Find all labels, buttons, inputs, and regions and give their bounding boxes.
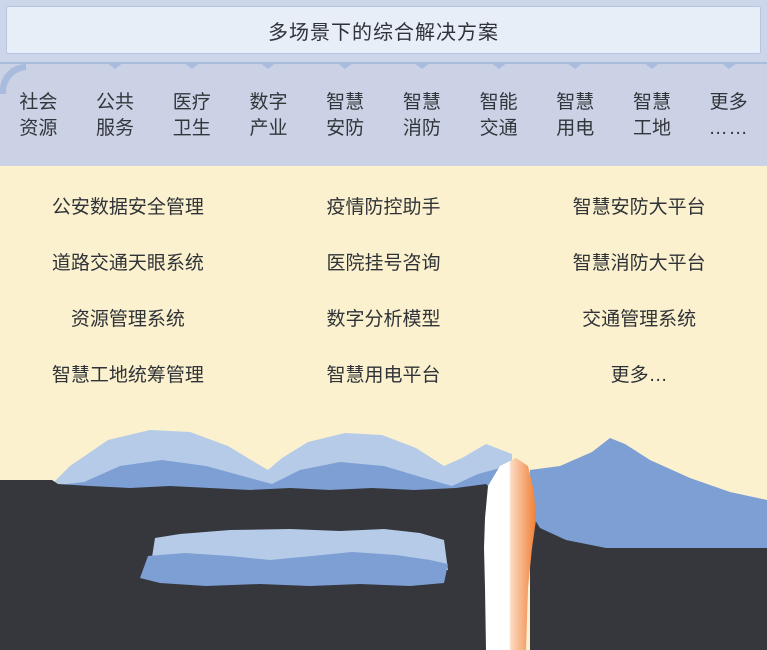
scenario-tab-9[interactable]: 更多…… <box>690 64 767 168</box>
solutions-panel: 公安数据安全管理疫情防控助手智慧安防大平台道路交通天眼系统医院挂号咨询智慧消防大… <box>0 166 767 421</box>
tab-divider-notch-top <box>720 62 738 69</box>
tab-label-line1: 数字 <box>249 91 287 115</box>
solution-item-3[interactable]: 道路交通天眼系统 <box>52 248 204 275</box>
solution-item-10[interactable]: 智慧用电平台 <box>326 360 440 387</box>
title-band: 多场景下的综合解决方案 <box>0 0 767 62</box>
landscape-svg <box>0 408 767 650</box>
tab-divider-notch-top <box>259 62 277 69</box>
solution-item-0[interactable]: 公安数据安全管理 <box>52 192 204 219</box>
tab-divider-notch-top <box>183 62 201 69</box>
solution-item-7[interactable]: 数字分析模型 <box>326 304 440 331</box>
tab-label-line1: 智慧 <box>556 91 594 115</box>
tab-label-line1: 社会 <box>19 91 57 115</box>
scenario-tab-5[interactable]: 智慧消防 <box>384 64 461 168</box>
tab-divider-notch-top <box>413 62 431 69</box>
scenario-tab-1[interactable]: 公共服务 <box>77 64 154 168</box>
scenario-tab-3[interactable]: 数字产业 <box>230 64 307 168</box>
tab-label-line2: 安防 <box>326 117 364 141</box>
tab-label-line1: 公共 <box>96 91 134 115</box>
scenario-tab-4[interactable]: 智慧安防 <box>307 64 384 168</box>
solution-item-9[interactable]: 智慧工地统筹管理 <box>52 360 204 387</box>
scenario-tabbar: 社会资源公共服务医疗卫生数字产业智慧安防智慧消防智能交通智慧用电智慧工地更多…… <box>0 62 767 166</box>
tab-divider-notch-top <box>643 62 661 69</box>
solution-item-4[interactable]: 医院挂号咨询 <box>326 248 440 275</box>
tab-label-line2: 消防 <box>403 117 441 141</box>
tab-label-line2: 产业 <box>249 117 287 141</box>
solution-item-2[interactable]: 智慧安防大平台 <box>573 192 706 219</box>
tab-label-line1: 智能 <box>480 91 518 115</box>
tab-label-line2: 交通 <box>480 117 518 141</box>
tab-label-line2: 资源 <box>19 117 57 141</box>
tab-divider-notch-top <box>490 62 508 69</box>
tab-label-line2: 卫生 <box>173 117 211 141</box>
tab-divider-notch-top <box>336 62 354 69</box>
solution-item-5[interactable]: 智慧消防大平台 <box>573 248 706 275</box>
solution-item-11[interactable]: 更多… <box>611 360 668 387</box>
solution-item-1[interactable]: 疫情防控助手 <box>326 192 440 219</box>
solution-item-6[interactable]: 资源管理系统 <box>71 304 185 331</box>
solution-overview-panel: 多场景下的综合解决方案 社会资源公共服务医疗卫生数字产业智慧安防智慧消防智能交通… <box>0 0 767 650</box>
tab-label-line1: 智慧 <box>403 91 441 115</box>
tab-divider-notch-top <box>566 62 584 69</box>
tab-label-line1: 智慧 <box>633 91 671 115</box>
scenario-tab-6[interactable]: 智能交通 <box>460 64 537 168</box>
solutions-grid: 公安数据安全管理疫情防控助手智慧安防大平台道路交通天眼系统医院挂号咨询智慧消防大… <box>0 166 767 401</box>
scenario-tab-2[interactable]: 医疗卫生 <box>153 64 230 168</box>
tab-label-line2: 工地 <box>633 117 671 141</box>
tab-label-line2: 服务 <box>96 117 134 141</box>
tab-label-line1: 智慧 <box>326 91 364 115</box>
tab-label-line1: 更多 <box>710 91 748 115</box>
tab-divider-notch-top <box>106 62 124 69</box>
tab-label-line2: …… <box>709 117 749 141</box>
title-bar: 多场景下的综合解决方案 <box>6 6 761 54</box>
scenario-tab-list: 社会资源公共服务医疗卫生数字产业智慧安防智慧消防智能交通智慧用电智慧工地更多…… <box>0 64 767 168</box>
scenario-tab-0[interactable]: 社会资源 <box>0 64 77 168</box>
solution-item-8[interactable]: 交通管理系统 <box>582 304 696 331</box>
scenario-tab-7[interactable]: 智慧用电 <box>537 64 614 168</box>
tab-label-line2: 用电 <box>556 117 594 141</box>
tab-label-line1: 医疗 <box>173 91 211 115</box>
page-title: 多场景下的综合解决方案 <box>268 16 499 45</box>
mountain-landscape-decoration <box>0 408 767 650</box>
scenario-tab-8[interactable]: 智慧工地 <box>614 64 691 168</box>
